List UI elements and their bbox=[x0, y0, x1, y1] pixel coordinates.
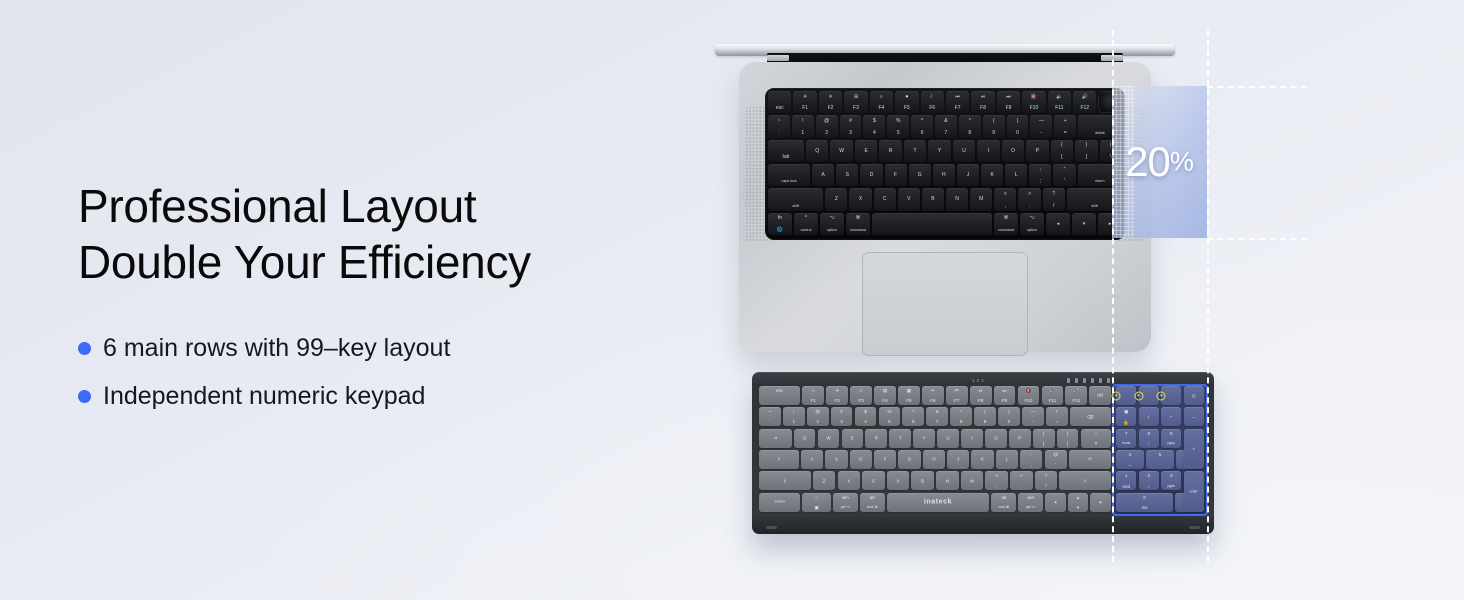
key-label: D bbox=[850, 457, 872, 462]
key-label-bottom: ins bbox=[1116, 505, 1173, 510]
key-label-top: $ bbox=[855, 409, 877, 414]
key-label-bottom: , bbox=[994, 203, 1016, 209]
key-label-top: 7 bbox=[1116, 431, 1136, 436]
keyboard-key[interactable]: ▸ bbox=[1090, 493, 1111, 512]
keyboard-key[interactable]: ⇧ bbox=[759, 471, 811, 490]
keyboard-key[interactable]: L bbox=[1005, 164, 1027, 186]
keyboard-key[interactable]: {[ bbox=[1033, 429, 1055, 448]
keyboard-key[interactable]: Y bbox=[928, 140, 950, 162]
keyboard-key[interactable]: ▤F4 bbox=[874, 386, 896, 405]
keyboard-key[interactable]: Y bbox=[913, 429, 935, 448]
keyboard-key[interactable]: —- bbox=[1022, 407, 1044, 426]
keyboard-key[interactable]: "' bbox=[1053, 164, 1075, 186]
keyboard-key[interactable]: ⏮F7 bbox=[946, 91, 969, 113]
keyboard-key[interactable]: L bbox=[996, 450, 1018, 469]
key-label: ⇪ bbox=[759, 457, 799, 462]
keyboard-key[interactable]: ⏯F8 bbox=[970, 386, 992, 405]
key-label-bottom: 1 bbox=[792, 130, 814, 136]
key-label-bottom: ' bbox=[1045, 462, 1067, 467]
numeric-keypad-zone: ⏻▣🔒/*–7home8↑9pgup+4←56→1end2↓3pgdnenter… bbox=[1114, 386, 1206, 514]
keyboard-key[interactable]: ~` bbox=[768, 115, 790, 137]
keyboard-key[interactable]: U bbox=[953, 140, 975, 162]
keyboard-key[interactable]: P bbox=[1009, 429, 1031, 448]
keyboard-key[interactable]: ⌥option bbox=[1020, 213, 1044, 235]
key-label-top: 2 bbox=[1139, 473, 1159, 478]
key-label: / bbox=[1139, 414, 1159, 419]
keyboard-key[interactable]: ⌫ bbox=[1070, 407, 1111, 426]
key-label-top: " bbox=[1053, 167, 1075, 173]
key-label-bottom: F8 bbox=[970, 398, 992, 403]
key-label-bottom: esc bbox=[768, 105, 791, 111]
key-label-top: ⏭ bbox=[994, 388, 1016, 393]
key-label-bottom: F9 bbox=[997, 105, 1020, 111]
key-label-bottom: ` bbox=[759, 419, 781, 424]
keyboard-key[interactable]: I bbox=[977, 140, 999, 162]
laptop-trackpad bbox=[862, 252, 1028, 356]
keyboard-key[interactable]: winopt ⌥ bbox=[833, 493, 858, 512]
key-label-bottom: caps lock bbox=[768, 178, 810, 184]
key-label-top: 🔇 bbox=[1022, 94, 1045, 100]
key-label: ▾ bbox=[1072, 221, 1096, 227]
keyboard-key[interactable]: !1 bbox=[792, 115, 814, 137]
keyboard-key[interactable]: ^6 bbox=[902, 407, 924, 426]
keyboard-key[interactable]: F bbox=[885, 164, 907, 186]
keyboard-key[interactable]: ⏮F7 bbox=[946, 386, 968, 405]
key-label-top: ^ bbox=[911, 118, 933, 124]
key-label: C bbox=[874, 196, 896, 202]
key-label-top: ) bbox=[1007, 118, 1029, 124]
key-label-bottom: F2 bbox=[819, 105, 842, 111]
key-label-bottom: cmd ⌘ bbox=[991, 505, 1016, 510]
keyboard-key[interactable]: Z bbox=[825, 188, 847, 210]
keyboard-key[interactable]: R bbox=[879, 140, 901, 162]
key-label-bottom: F12 bbox=[1065, 398, 1087, 403]
keyboard-key[interactable]: altcmd ⌘ bbox=[860, 493, 885, 512]
keyboard-key[interactable]: %5 bbox=[879, 407, 901, 426]
key-label-top: ! bbox=[792, 118, 814, 124]
keyboard-key[interactable]: ▾ bbox=[1072, 213, 1096, 235]
keyboard-key[interactable]: E bbox=[855, 140, 877, 162]
keyboard-key[interactable]: H bbox=[923, 450, 945, 469]
keyboard-key[interactable]: 🔉F11 bbox=[1048, 91, 1071, 113]
key-label-top: ⌘ bbox=[994, 215, 1018, 221]
key-label-top: } bbox=[1075, 142, 1097, 148]
keyboard-key[interactable]: J bbox=[947, 450, 969, 469]
key-label-top: ▦ bbox=[898, 388, 920, 393]
keyboard-key[interactable]: {[ bbox=[1051, 140, 1073, 162]
key-label-bottom: F12 bbox=[1073, 105, 1096, 111]
keyboard-key[interactable]: ☀F2 bbox=[826, 386, 848, 405]
keyboard-key[interactable] bbox=[872, 213, 992, 235]
keyboard-key[interactable]: ⌕F3 bbox=[850, 386, 872, 405]
key-label-bottom: F1 bbox=[802, 398, 824, 403]
guide-line-top bbox=[1207, 86, 1307, 88]
key-label: ▸ bbox=[1090, 499, 1111, 504]
key-label-bottom: opt ⌥ bbox=[1018, 505, 1043, 510]
keyboard-key[interactable]: 🔇F10 bbox=[1018, 386, 1040, 405]
key-label-bottom: F11 bbox=[1042, 398, 1064, 403]
key-label-top: > bbox=[1010, 473, 1032, 478]
key-label: Q bbox=[806, 148, 828, 154]
keyboard-key[interactable]: control bbox=[759, 493, 800, 512]
key-label-top: ⊞ bbox=[844, 94, 867, 100]
keyboard-key[interactable]: &7 bbox=[935, 115, 957, 137]
keyboard-key[interactable]: <, bbox=[985, 471, 1007, 490]
numpad-row: ▣🔒/*– bbox=[1116, 407, 1204, 426]
key-label-top: # bbox=[831, 409, 853, 414]
keyboard-key[interactable]: ?/ bbox=[1043, 188, 1065, 210]
keyboard-key[interactable]: W bbox=[830, 140, 852, 162]
key-label-bottom: F7 bbox=[946, 105, 969, 111]
key-label-top: % bbox=[887, 118, 909, 124]
numpad-key[interactable]: ▣🔒 bbox=[1116, 407, 1136, 426]
keyboard-key[interactable]: &7 bbox=[926, 407, 948, 426]
key-label-top: $ bbox=[863, 118, 885, 124]
numpad-key[interactable]: ⏻ bbox=[1184, 386, 1204, 405]
keyboard-key[interactable]: :; bbox=[1020, 450, 1042, 469]
key-label-bottom: 7 bbox=[935, 130, 957, 136]
keyboard-key[interactable]: ◂ bbox=[1046, 213, 1070, 235]
keyboard-key[interactable]: ☾F6 bbox=[921, 91, 944, 113]
keyboard-foot bbox=[766, 526, 777, 529]
key-label-top: win bbox=[1018, 495, 1043, 500]
keyboard-key[interactable]: H bbox=[933, 164, 955, 186]
keyboard-key[interactable]: <, bbox=[994, 188, 1016, 210]
keyboard-key[interactable]: >. bbox=[1018, 188, 1040, 210]
keyboard-key[interactable]: K bbox=[971, 450, 993, 469]
keyboard-key[interactable]: ?/ bbox=[1035, 471, 1057, 490]
keyboard-key[interactable]: }] bbox=[1075, 140, 1097, 162]
key-label-top: ▴ bbox=[1068, 495, 1089, 500]
keyboard-key[interactable]: ⏎ bbox=[1069, 450, 1111, 469]
key-label-bottom: F1 bbox=[793, 105, 816, 111]
keyboard-key[interactable]: ~# bbox=[1081, 429, 1111, 448]
key-label-top: ☾ bbox=[921, 94, 944, 100]
keyboard-key[interactable]: ⌘command bbox=[994, 213, 1018, 235]
key-label: K bbox=[971, 457, 993, 462]
keyboard-key[interactable]: ⌂▣ bbox=[802, 493, 831, 512]
key-label-bottom: . bbox=[1018, 203, 1040, 209]
keyboard-key[interactable]: ⏭F9 bbox=[997, 91, 1020, 113]
keyboard-key[interactable]: 🔊F12 bbox=[1065, 386, 1087, 405]
keyboard-key[interactable]: X bbox=[838, 471, 860, 490]
key-label-bottom: F6 bbox=[922, 398, 944, 403]
key-label-top: ⌥ bbox=[820, 215, 844, 221]
brand-logo: inateck bbox=[887, 499, 990, 506]
keyboard-key[interactable]: B bbox=[911, 471, 933, 490]
numpad-key[interactable]: 1end bbox=[1116, 471, 1136, 490]
key-label-top: ⌥ bbox=[1020, 215, 1044, 221]
key-label-top: 9 bbox=[1161, 431, 1181, 436]
key-label: ⇧ bbox=[1059, 478, 1111, 483]
keyboard-key[interactable]: F bbox=[874, 450, 896, 469]
status-leds bbox=[1067, 378, 1110, 383]
promo-banner: Professional Layout Double Your Efficien… bbox=[0, 0, 1464, 600]
key-label: A bbox=[812, 172, 834, 178]
keyboard-key[interactable]: @' bbox=[1045, 450, 1067, 469]
list-item: Independent numeric keypad bbox=[78, 380, 678, 412]
key-label-bottom: 7 bbox=[926, 419, 948, 424]
key-label-bottom: F3 bbox=[844, 105, 867, 111]
key-label: B bbox=[911, 478, 933, 483]
keyboard-key[interactable]: O bbox=[985, 429, 1007, 448]
key-label-top: 🔊 bbox=[1065, 388, 1087, 393]
guide-line-left bbox=[1112, 30, 1114, 562]
keyboard-key[interactable]: ⏺F5 bbox=[895, 91, 918, 113]
keyboard-key[interactable]: U bbox=[937, 429, 959, 448]
keyboard-key[interactable]: (9 bbox=[974, 407, 996, 426]
key-label-top: ☀ bbox=[793, 94, 816, 100]
key-label-top: 🔉 bbox=[1042, 388, 1064, 393]
numpad-key[interactable]: – bbox=[1184, 407, 1204, 426]
key-label-top: ( bbox=[974, 409, 996, 414]
keyboard-key[interactable]: M bbox=[970, 188, 992, 210]
key-label-top: ~ bbox=[1081, 431, 1111, 436]
keyboard-key[interactable]: shift bbox=[768, 188, 823, 210]
key-label-bottom: F3 bbox=[850, 398, 872, 403]
keyboard-key[interactable]: Q bbox=[794, 429, 816, 448]
key-label: U bbox=[937, 435, 959, 440]
keyboard-key[interactable]: P bbox=[1026, 140, 1048, 162]
numpad-key[interactable]: + bbox=[1184, 429, 1204, 469]
keyboard-key[interactable]: W bbox=[818, 429, 840, 448]
key-label-top: ) bbox=[998, 409, 1020, 414]
keyboard-key[interactable]: T bbox=[904, 140, 926, 162]
key-label-top: { bbox=[1051, 142, 1073, 148]
keyboard-key[interactable]: ^6 bbox=[911, 115, 933, 137]
key-label: V bbox=[887, 478, 909, 483]
keyboard-key[interactable]: S bbox=[836, 164, 858, 186]
keyboard-key[interactable]: ⇧ bbox=[1059, 471, 1111, 490]
keyboard-key[interactable]: V bbox=[887, 471, 909, 490]
key-label: J bbox=[957, 172, 979, 178]
keyboard-key[interactable]: += bbox=[1046, 407, 1068, 426]
keyboard-key[interactable]: C bbox=[862, 471, 884, 490]
keyboard-key[interactable]: del bbox=[1089, 386, 1111, 405]
key-label: O bbox=[985, 435, 1007, 440]
keyboard-key[interactable]: I bbox=[961, 429, 983, 448]
key-label-bottom: ; bbox=[1020, 462, 1042, 467]
key-label-top: ☀ bbox=[819, 94, 842, 100]
key-label-top: * bbox=[959, 118, 981, 124]
key-label-bottom: - bbox=[1022, 419, 1044, 424]
keyboard-row: control⌂▣winopt ⌥altcmd ⌘inateckaltcmd ⌘… bbox=[759, 493, 1111, 512]
keyboard-key[interactable]: O bbox=[1002, 140, 1024, 162]
key-label-bottom: = bbox=[1046, 419, 1068, 424]
keyboard-key[interactable]: ▴▾ bbox=[1068, 493, 1089, 512]
keyboard-key[interactable]: %5 bbox=[887, 115, 909, 137]
key-label: L bbox=[996, 457, 1018, 462]
keyboard-key[interactable]: $4 bbox=[863, 115, 885, 137]
bluetooth-label: 1 2 3 bbox=[972, 378, 984, 383]
keyboard-key[interactable]: !1 bbox=[783, 407, 805, 426]
spacebar[interactable]: inateck bbox=[887, 493, 990, 512]
keyboard-key[interactable]: X bbox=[849, 188, 871, 210]
numpad-key[interactable]: 3pgdn bbox=[1161, 471, 1181, 490]
numpad-key[interactable]: enter bbox=[1184, 471, 1204, 511]
key-label-top: ⌕ bbox=[850, 388, 872, 393]
keyboard-key[interactable]: A bbox=[812, 164, 834, 186]
keyboard-key[interactable]: ☀F2 bbox=[819, 91, 842, 113]
keyboard-key[interactable]: 🔇F10 bbox=[1022, 91, 1045, 113]
keyboard-row: esc☀F1☀F2⊞F3⌕F4⏺F5☾F6⏮F7⏯F8⏭F9🔇F10🔉F11🔊F… bbox=[768, 91, 1122, 113]
keyboard-key[interactable]: N bbox=[936, 471, 958, 490]
keyboard-key[interactable]: S bbox=[825, 450, 847, 469]
keyboard-foot bbox=[1189, 526, 1200, 529]
keyboard-key[interactable]: B bbox=[922, 188, 944, 210]
key-label-bottom: - bbox=[1030, 130, 1052, 136]
keyboard-key[interactable]: ⇥ bbox=[759, 429, 792, 448]
key-label-bottom: ▣ bbox=[802, 505, 831, 510]
keyboard-key[interactable]: C bbox=[874, 188, 896, 210]
key-label-bottom: 4 bbox=[855, 419, 877, 424]
numpad-key[interactable]: 4← bbox=[1116, 450, 1144, 469]
channel-indicator-icon bbox=[1134, 391, 1143, 400]
keyboard-key[interactable]: @2 bbox=[816, 115, 838, 137]
keyboard-key[interactable]: esc bbox=[768, 91, 791, 113]
keyboard-key[interactable]: A bbox=[801, 450, 823, 469]
keyboard-key[interactable]: *8 bbox=[950, 407, 972, 426]
key-label: X bbox=[838, 478, 860, 483]
key-label-top: ⌘ bbox=[846, 215, 870, 221]
key-label-bottom: = bbox=[1054, 130, 1076, 136]
keyboard-key[interactable]: ⊞F3 bbox=[844, 91, 867, 113]
key-label-top: ☼ bbox=[802, 388, 824, 393]
numpad-key[interactable]: 5 bbox=[1146, 450, 1174, 469]
keyboard-key[interactable]: >. bbox=[1010, 471, 1032, 490]
keyboard-key[interactable]: —- bbox=[1030, 115, 1052, 137]
feature-list: 6 main rows with 99–key layout Independe… bbox=[78, 332, 678, 412]
key-label-bottom: 6 bbox=[902, 419, 924, 424]
keyboard-key[interactable]: ⏯F8 bbox=[971, 91, 994, 113]
keyboard-key[interactable]: esc bbox=[759, 386, 800, 405]
keyboard-key[interactable]: :; bbox=[1029, 164, 1051, 186]
keyboard-row: ~`!1@2#3$4%5^6&7*8(9)0—-+=⌫ bbox=[759, 407, 1111, 426]
keyboard-key[interactable]: J bbox=[957, 164, 979, 186]
key-label-bottom: 2 bbox=[807, 419, 829, 424]
keyboard-key[interactable]: 🔉F11 bbox=[1042, 386, 1064, 405]
keyboard-key[interactable]: winopt ⌥ bbox=[1018, 493, 1043, 512]
keyboard-key[interactable]: )0 bbox=[998, 407, 1020, 426]
key-label: T bbox=[889, 435, 911, 440]
key-label-bottom: F8 bbox=[971, 105, 994, 111]
key-label: Z bbox=[825, 196, 847, 202]
key-label-bottom: 2 bbox=[816, 130, 838, 136]
keyboard-key[interactable]: M bbox=[961, 471, 983, 490]
key-label: T bbox=[904, 148, 926, 154]
keyboard-key[interactable]: ⇪ bbox=[759, 450, 799, 469]
keyboard-key[interactable]: 🔊F12 bbox=[1073, 91, 1096, 113]
keyboard-key[interactable]: ⏭F9 bbox=[994, 386, 1016, 405]
numpad-key[interactable]: 9pgup bbox=[1161, 429, 1181, 448]
keyboard-key[interactable]: fn🌐 bbox=[768, 213, 792, 235]
key-label-bottom: command bbox=[846, 227, 870, 233]
key-label-top: : bbox=[1029, 167, 1051, 173]
key-label-bottom: cmd ⌘ bbox=[860, 505, 885, 510]
keyboard-key[interactable]: *8 bbox=[959, 115, 981, 137]
keyboard-key[interactable]: #3 bbox=[840, 115, 862, 137]
keyboard-key[interactable]: G bbox=[909, 164, 931, 186]
keyboard-key[interactable]: @2 bbox=[807, 407, 829, 426]
key-label: E bbox=[842, 435, 864, 440]
keyboard-key[interactable]: E bbox=[842, 429, 864, 448]
key-label-top: 🔇 bbox=[1018, 388, 1040, 393]
keyboard-key[interactable]: ◂ bbox=[1045, 493, 1066, 512]
keyboard-key[interactable]: ☼F1 bbox=[802, 386, 824, 405]
keyboard-key[interactable]: )0 bbox=[1007, 115, 1029, 137]
numpad-key[interactable]: / bbox=[1139, 407, 1159, 426]
key-label: Y bbox=[928, 148, 950, 154]
keyboard-key[interactable]: (9 bbox=[983, 115, 1005, 137]
key-label-bottom: F11 bbox=[1048, 105, 1071, 111]
keyboard-key[interactable]: R bbox=[865, 429, 887, 448]
key-label: W bbox=[818, 435, 840, 440]
key-label-bottom: ` bbox=[768, 130, 790, 136]
key-label-bottom: # bbox=[1081, 441, 1111, 446]
key-label-bottom: ] bbox=[1057, 441, 1079, 446]
keyboard-key[interactable]: D bbox=[850, 450, 872, 469]
key-label-bottom: 3 bbox=[840, 130, 862, 136]
numpad-key[interactable]: * bbox=[1161, 407, 1181, 426]
keyboard-key[interactable]: ⌕F4 bbox=[870, 91, 893, 113]
keyboard-key[interactable]: Q bbox=[806, 140, 828, 162]
keyboard-key[interactable]: altcmd ⌘ bbox=[991, 493, 1016, 512]
keyboard-key[interactable]: += bbox=[1054, 115, 1076, 137]
callout-value: 20% bbox=[1125, 138, 1193, 186]
numpad-row: ⏻ bbox=[1116, 386, 1204, 405]
numpad-key[interactable]: 8↑ bbox=[1139, 429, 1159, 448]
key-label-bottom: 5 bbox=[887, 130, 909, 136]
key-label-top: ^ bbox=[794, 215, 818, 221]
key-label: I bbox=[961, 435, 983, 440]
keyboard-key[interactable]: G bbox=[898, 450, 920, 469]
key-label-top: : bbox=[1020, 452, 1042, 457]
keyboard-key[interactable]: ☀F1 bbox=[793, 91, 816, 113]
keyboard-key[interactable]: caps lock bbox=[768, 164, 810, 186]
keyboard-key[interactable]: ⌘command bbox=[846, 213, 870, 235]
key-label: ⏎ bbox=[1069, 457, 1111, 462]
key-label: N bbox=[946, 196, 968, 202]
keyboard-key[interactable]: #3 bbox=[831, 407, 853, 426]
bluetooth-channel-key[interactable] bbox=[1161, 386, 1181, 405]
key-label-bottom: 0 bbox=[1007, 130, 1029, 136]
keyboard-key[interactable]: tab bbox=[768, 140, 804, 162]
key-label: A bbox=[801, 457, 823, 462]
key-label: P bbox=[1009, 435, 1031, 440]
keyboard-key[interactable]: $4 bbox=[855, 407, 877, 426]
keyboard-key[interactable]: }] bbox=[1057, 429, 1079, 448]
keyboard-key[interactable]: K bbox=[981, 164, 1003, 186]
keyboard-key[interactable]: Z bbox=[813, 471, 835, 490]
numpad-key[interactable]: 7home bbox=[1116, 429, 1136, 448]
numpad-key[interactable]: 2↓ bbox=[1139, 471, 1159, 490]
key-label-top: } bbox=[1057, 431, 1079, 436]
key-label-bottom: F5 bbox=[898, 398, 920, 403]
keyboard-key[interactable]: V bbox=[898, 188, 920, 210]
keyboard-key[interactable]: ✂F6 bbox=[922, 386, 944, 405]
keyboard-key[interactable]: ▦F5 bbox=[898, 386, 920, 405]
key-label-top: — bbox=[1030, 118, 1052, 124]
keyboard-key[interactable]: ~` bbox=[759, 407, 781, 426]
keyboard-key[interactable]: N bbox=[946, 188, 968, 210]
keyboard-key[interactable]: T bbox=[889, 429, 911, 448]
numpad-key[interactable]: 0ins bbox=[1116, 493, 1173, 512]
keyboard-key[interactable]: ⌥option bbox=[820, 213, 844, 235]
keyboard-key[interactable]: ^control bbox=[794, 213, 818, 235]
key-label-bottom: F5 bbox=[895, 105, 918, 111]
keyboard-key[interactable]: D bbox=[860, 164, 882, 186]
key-label-bottom: ↑ bbox=[1139, 441, 1159, 446]
